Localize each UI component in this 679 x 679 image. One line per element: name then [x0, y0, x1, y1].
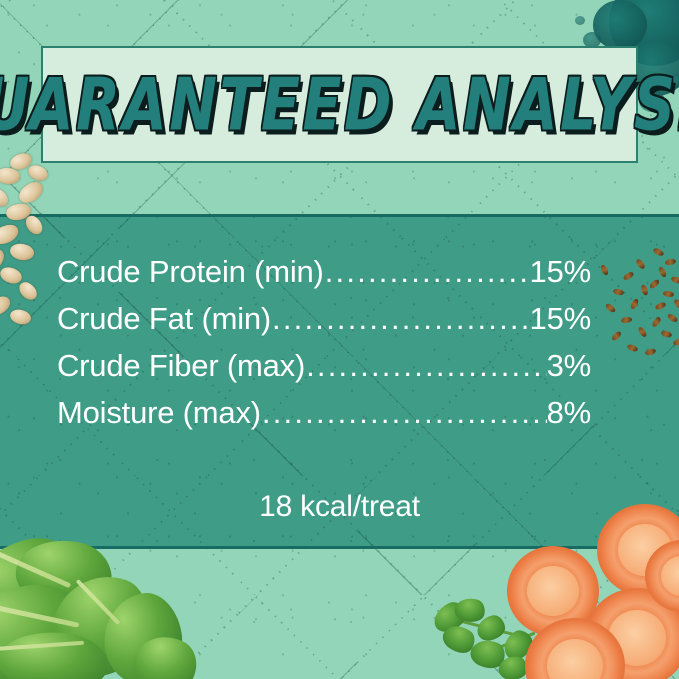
nutrient-label: Crude Fat (min) — [57, 295, 271, 342]
divider-line-top — [0, 214, 679, 217]
leader-dots: ............................ — [262, 389, 547, 436]
nutrient-label: Crude Fiber (max) — [57, 342, 305, 389]
nutrient-value: 15% — [530, 248, 591, 295]
nutrient-value: 3% — [547, 342, 591, 389]
nutrient-value: 8% — [547, 389, 591, 436]
analysis-row-moisture: Moisture (max) .........................… — [57, 389, 591, 436]
nutrient-label: Moisture (max) — [57, 389, 261, 436]
analysis-row-crude-protein: Crude Protein (min) ....................… — [57, 248, 591, 295]
page-title: GUARANTEED ANALYSIS — [0, 62, 679, 146]
leader-dots: .................... — [325, 248, 530, 295]
guaranteed-analysis-panel: GUARANTEED ANALYSIS Crude Protein (min) … — [0, 0, 679, 679]
divider-line-bottom — [0, 546, 679, 549]
nutrient-value: 15% — [530, 295, 591, 342]
leader-dots: .......................... — [272, 295, 530, 342]
calorie-statement: 18 kcal/treat — [0, 490, 679, 524]
leader-dots: ........................ — [306, 342, 546, 389]
title-box: GUARANTEED ANALYSIS — [41, 46, 638, 163]
analysis-row-crude-fiber: Crude Fiber (max) ......................… — [57, 342, 591, 389]
analysis-row-crude-fat: Crude Fat (min) ........................… — [57, 295, 591, 342]
analysis-list: Crude Protein (min) ....................… — [57, 248, 591, 436]
nutrient-label: Crude Protein (min) — [57, 248, 324, 295]
background-band-bottom — [0, 548, 679, 679]
